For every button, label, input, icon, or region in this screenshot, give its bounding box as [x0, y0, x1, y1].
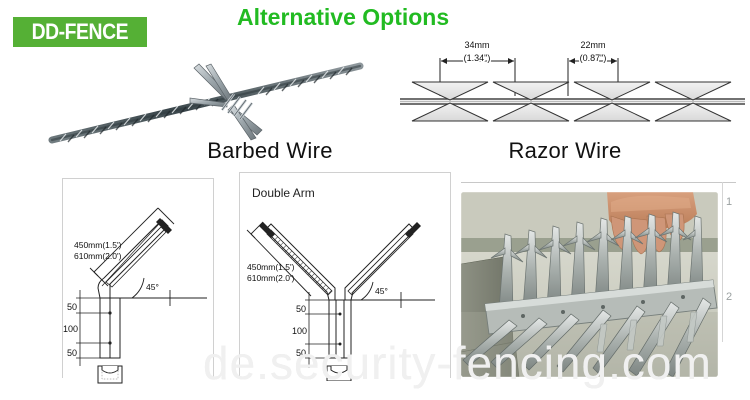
double-arm-drawing: 450mm(1.5') 610mm(2.0') 45° 50 100 5 — [239, 196, 454, 381]
single-arm-drawing: 450mm(1.5') 610mm(2.0') 45° 50 100 5 — [62, 190, 222, 385]
razor-dim-blade-mm: 34mm — [464, 40, 489, 50]
double-arm-angle: 45° — [375, 286, 388, 296]
wall-spikes-photo — [461, 192, 718, 377]
double-arm-d-top: 50 — [296, 304, 306, 314]
double-arm-len-a: 450mm(1.5') — [247, 262, 295, 272]
single-arm-len-b: 610mm(2.0') — [74, 251, 122, 261]
double-arm-d-mid: 100 — [292, 326, 307, 336]
barbed-wire-caption: Barbed Wire — [170, 138, 370, 164]
razor-dim-gap-mm: 22mm — [580, 40, 605, 50]
page-root: DD-FENCE Alternative Options — [0, 0, 750, 400]
single-arm-len-a: 450mm(1.5') — [74, 240, 122, 250]
double-arm-len-b: 610mm(2.0') — [247, 273, 295, 283]
razor-dim-blade-in: (1.34") — [464, 53, 491, 63]
single-arm-d-top: 50 — [67, 302, 77, 312]
barbed-wire-image — [30, 58, 375, 148]
photo-edge-label-1: 1 — [726, 196, 732, 208]
photo-right-rule — [722, 182, 723, 342]
single-arm-angle: 45° — [146, 282, 159, 292]
razor-wire-caption: Razor Wire — [465, 138, 665, 164]
razor-wire-diagram: 34mm (1.34") 22mm (0.87") — [400, 34, 745, 139]
brand-logo: DD-FENCE — [13, 17, 147, 47]
photo-edge-label-2: 2 — [726, 291, 732, 303]
razor-dim-gap-in: (0.87") — [580, 53, 607, 63]
brand-logo-text: DD-FENCE — [32, 21, 129, 43]
single-arm-d-bot: 50 — [67, 348, 77, 358]
photo-top-rule — [461, 182, 736, 183]
page-title: Alternative Options — [237, 4, 497, 31]
double-arm-d-bot: 50 — [296, 348, 306, 358]
single-arm-d-mid: 100 — [63, 324, 78, 334]
